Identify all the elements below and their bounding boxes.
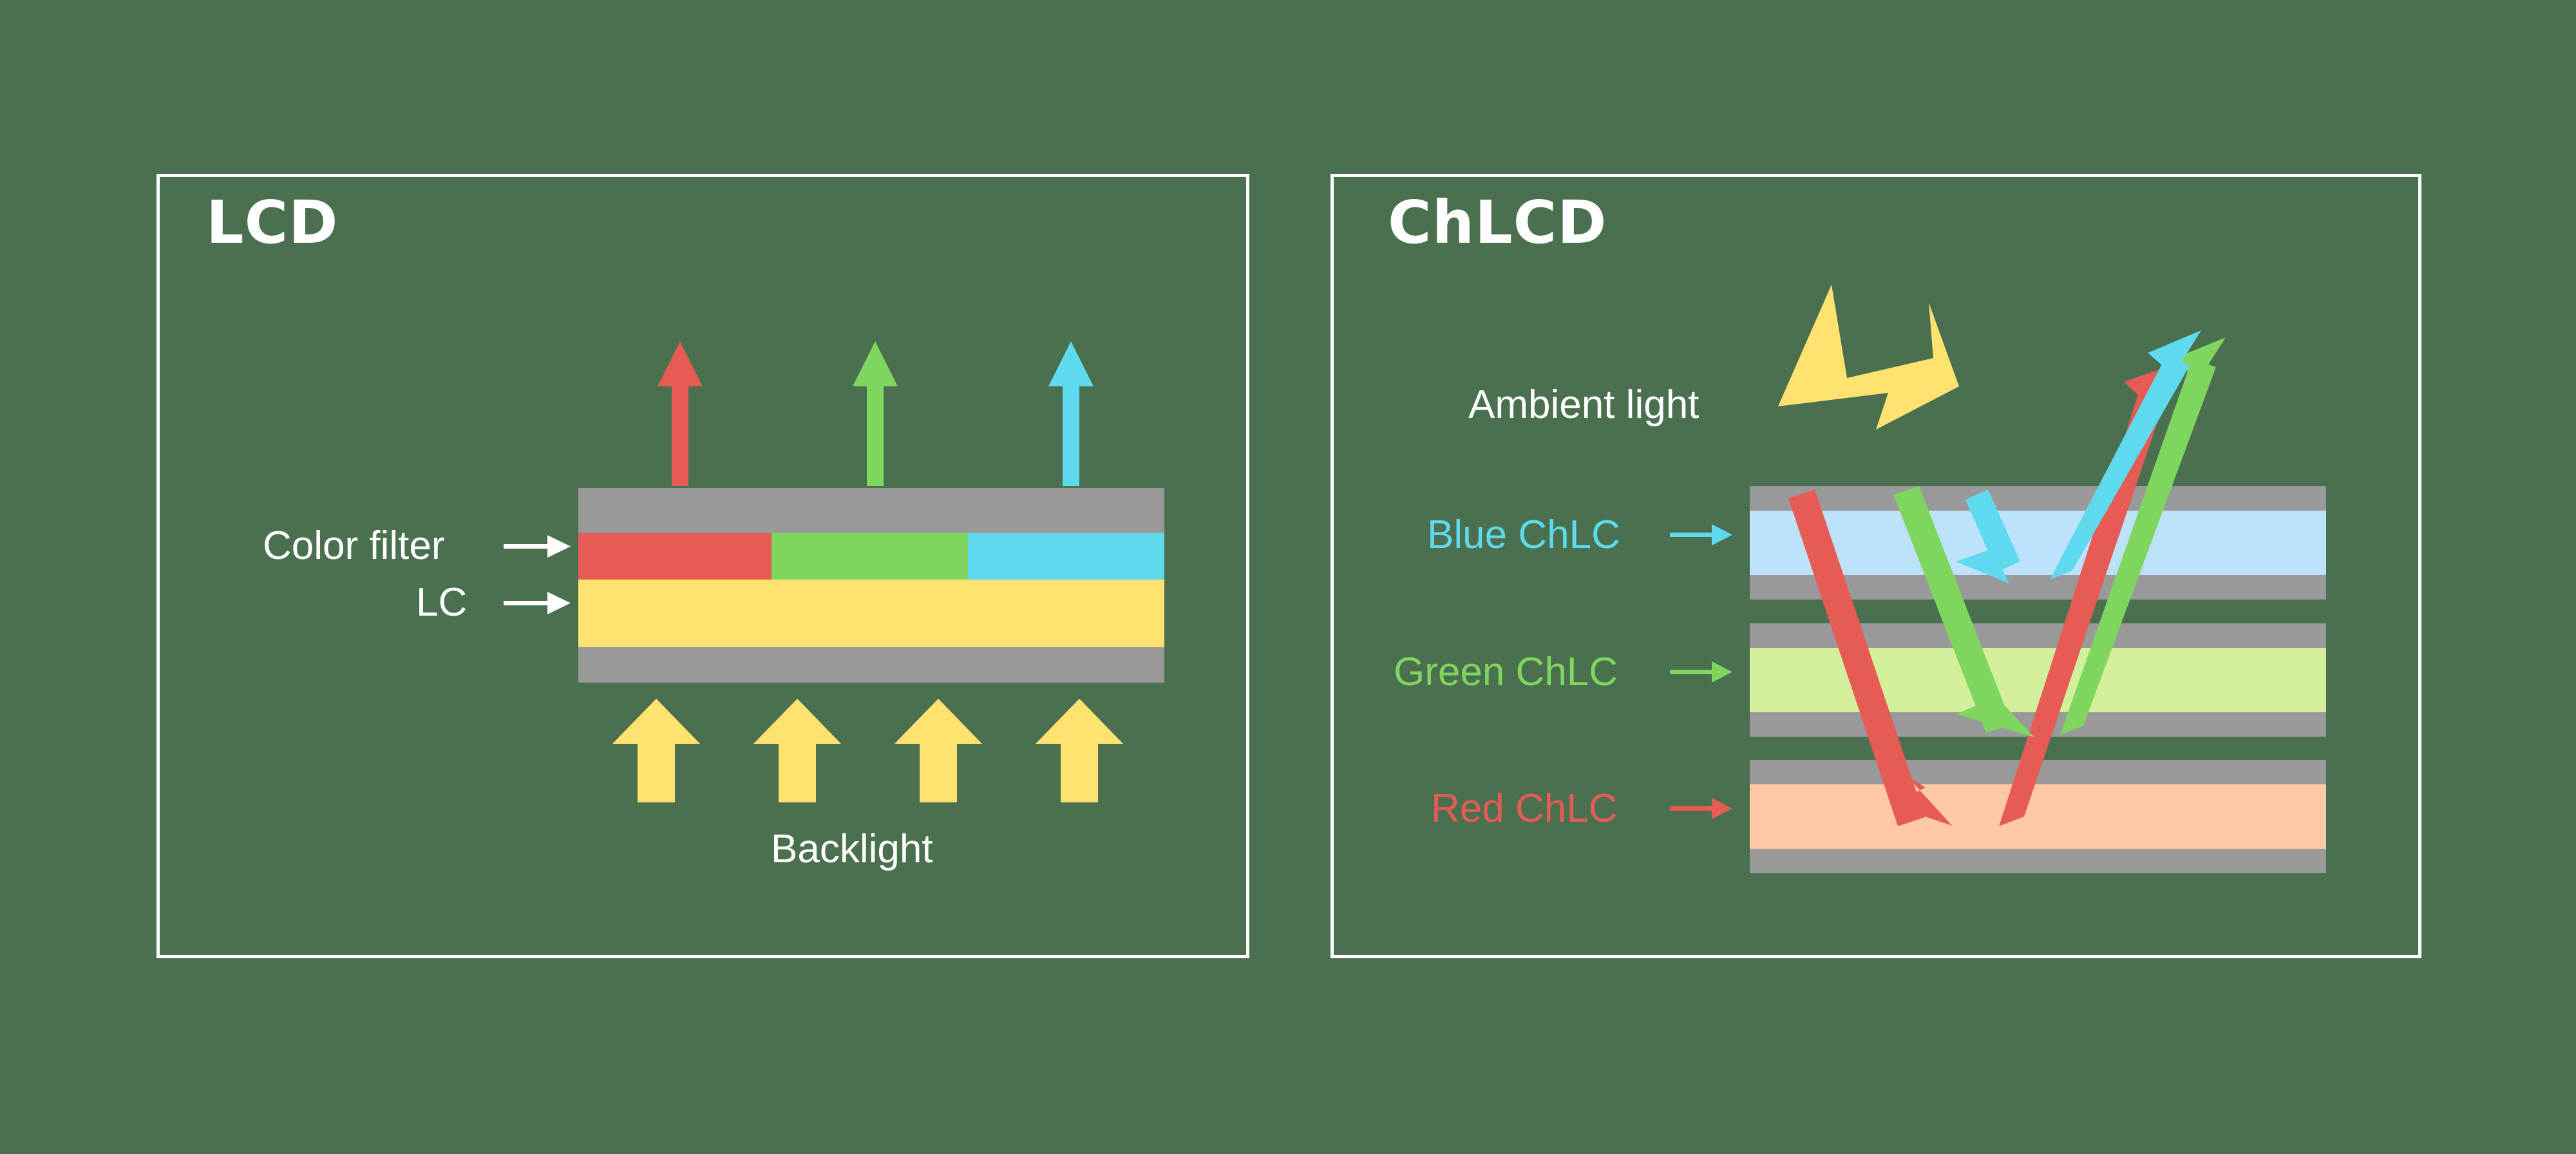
chlcd-group-red bbox=[1750, 760, 2326, 873]
chlcd-stack bbox=[1750, 486, 2326, 873]
label-red-chlc: Red ChLC bbox=[1431, 789, 1617, 829]
chlcd-red-top-substrate bbox=[1750, 760, 2326, 784]
label-lc: LC bbox=[416, 583, 467, 623]
chlcd-blue-layer bbox=[1750, 511, 2326, 575]
panel-title-lcd: LCD bbox=[206, 193, 339, 252]
lcd-bottom-substrate bbox=[578, 647, 1164, 683]
label-green-chlc: Green ChLC bbox=[1394, 652, 1618, 692]
panel-title-chlcd: ChLCD bbox=[1388, 193, 1607, 252]
chlcd-blue-top-substrate bbox=[1750, 486, 2326, 511]
chlcd-green-top-substrate bbox=[1750, 623, 2326, 648]
lcd-stack bbox=[578, 488, 1164, 683]
label-blue-chlc: Blue ChLC bbox=[1427, 515, 1620, 555]
lcd-color-filter-blue bbox=[968, 533, 1164, 580]
lcd-color-filter-green bbox=[772, 533, 968, 580]
label-backlight: Backlight bbox=[771, 829, 933, 869]
lcd-color-filter-row bbox=[578, 533, 1164, 580]
chlcd-green-bottom-substrate bbox=[1750, 712, 2326, 737]
label-ambient-light: Ambient light bbox=[1468, 385, 1699, 425]
label-color-filter: Color filter bbox=[263, 526, 445, 566]
chlcd-red-layer bbox=[1750, 784, 2326, 849]
chlcd-blue-bottom-substrate bbox=[1750, 575, 2326, 600]
lcd-color-filter-red bbox=[578, 533, 772, 580]
chlcd-red-bottom-substrate bbox=[1750, 849, 2326, 873]
lcd-top-substrate bbox=[578, 488, 1164, 533]
chlcd-green-layer bbox=[1750, 648, 2326, 712]
chlcd-group-green bbox=[1750, 623, 2326, 736]
lcd-liquid-crystal-layer bbox=[578, 580, 1164, 647]
chlcd-group-blue bbox=[1750, 486, 2326, 599]
diagram-canvas: LCD Color filter LC bbox=[0, 0, 2576, 1154]
